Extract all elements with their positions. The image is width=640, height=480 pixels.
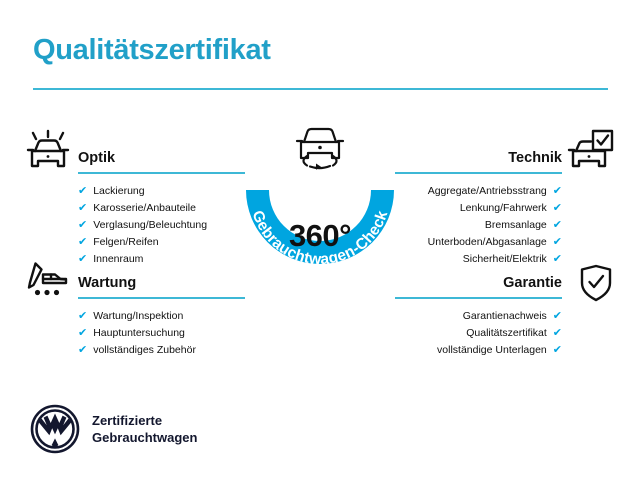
section-garantie-title: Garantie: [395, 273, 562, 293]
vw-logo: [30, 404, 80, 454]
car-rotate-360-icon: [290, 118, 350, 174]
check-icon: ✔: [78, 328, 87, 339]
section-optik-divider: [78, 172, 245, 174]
check-icon: ✔: [553, 220, 562, 231]
section-optik-header: Optik: [78, 148, 245, 174]
list-item: ✔Wartung/Inspektion: [78, 308, 245, 325]
section-technik-list: Aggregate/Antriebsstrang✔ Lenkung/Fahrwe…: [395, 183, 562, 268]
section-technik-divider: [395, 172, 562, 174]
list-item-label: vollständiges Zubehör: [93, 342, 196, 359]
footer: Zertifizierte Gebrauchtwagen: [30, 404, 197, 454]
footer-text: Zertifizierte Gebrauchtwagen: [92, 412, 197, 446]
list-item-label: Lenkung/Fahrwerk: [460, 200, 547, 217]
list-item-label: Lackierung: [93, 183, 144, 200]
list-item: vollständige Unterlagen✔: [395, 342, 562, 359]
check-icon: ✔: [553, 254, 562, 265]
footer-line-2: Gebrauchtwagen: [92, 429, 197, 446]
section-technik-header: Technik: [395, 148, 562, 174]
check-icon: ✔: [553, 311, 562, 322]
list-item: ✔Verglasung/Beleuchtung: [78, 217, 245, 234]
badge-center-label: 360°: [228, 218, 412, 254]
list-item-label: Unterboden/Abgasanlage: [428, 234, 547, 251]
list-item: Unterboden/Abgasanlage✔: [395, 234, 562, 251]
badge-360-gebrauchtwagen-check: Gebrauchtwagen-Check 360°: [228, 118, 412, 308]
list-item: Lenkung/Fahrwerk✔: [395, 200, 562, 217]
list-item: ✔Innenraum: [78, 251, 245, 268]
check-icon: ✔: [78, 237, 87, 248]
section-wartung-header: Wartung: [78, 273, 245, 299]
check-icon: ✔: [553, 203, 562, 214]
check-icon: ✔: [78, 186, 87, 197]
list-item-label: Felgen/Reifen: [93, 234, 158, 251]
section-garantie-list: Garantienachweis✔ Qualitätszertifikat✔ v…: [395, 308, 562, 359]
car-checkbox-icon: [566, 129, 614, 173]
list-item: Qualitätszertifikat✔: [395, 325, 562, 342]
list-item-label: Sicherheit/Elektrik: [463, 251, 547, 268]
list-item: Garantienachweis✔: [395, 308, 562, 325]
list-item: ✔Karosserie/Anbauteile: [78, 200, 245, 217]
list-item-label: Verglasung/Beleuchtung: [93, 217, 207, 234]
list-item: Bremsanlage✔: [395, 217, 562, 234]
section-technik: Technik Aggregate/Antriebsstrang✔ Lenkun…: [395, 148, 562, 268]
list-item-label: Qualitätszertifikat: [466, 325, 547, 342]
section-optik-title: Optik: [78, 148, 245, 168]
section-wartung-divider: [78, 297, 245, 299]
footer-line-1: Zertifizierte: [92, 412, 197, 429]
section-wartung-title: Wartung: [78, 273, 245, 293]
list-item-label: Karosserie/Anbauteile: [93, 200, 196, 217]
check-icon: ✔: [78, 254, 87, 265]
check-icon: ✔: [78, 345, 87, 356]
list-item-label: Wartung/Inspektion: [93, 308, 183, 325]
section-technik-title: Technik: [395, 148, 562, 168]
car-front-shine-icon: [24, 129, 72, 173]
list-item-label: Garantienachweis: [463, 308, 547, 325]
list-item-label: Bremsanlage: [485, 217, 547, 234]
car-service-pen-icon: [24, 259, 72, 303]
check-icon: ✔: [553, 237, 562, 248]
section-optik: Optik ✔Lackierung ✔Karosserie/Anbauteile…: [78, 148, 245, 268]
list-item-label: Hauptuntersuchung: [93, 325, 185, 342]
check-icon: ✔: [553, 328, 562, 339]
list-item: Aggregate/Antriebsstrang✔: [395, 183, 562, 200]
title-divider: [33, 88, 608, 90]
check-icon: ✔: [78, 311, 87, 322]
shield-check-icon: [572, 261, 620, 305]
check-icon: ✔: [553, 345, 562, 356]
check-icon: ✔: [553, 186, 562, 197]
check-icon: ✔: [78, 220, 87, 231]
list-item-label: Innenraum: [93, 251, 143, 268]
list-item-label: Aggregate/Antriebsstrang: [428, 183, 547, 200]
check-icon: ✔: [78, 203, 87, 214]
list-item-label: vollständige Unterlagen: [437, 342, 547, 359]
page-title: Qualitätszertifikat: [33, 34, 271, 67]
list-item: ✔Lackierung: [78, 183, 245, 200]
section-garantie: Garantie Garantienachweis✔ Qualitätszert…: [395, 273, 562, 359]
section-wartung: Wartung ✔Wartung/Inspektion ✔Hauptunters…: [78, 273, 245, 359]
list-item: ✔Felgen/Reifen: [78, 234, 245, 251]
certificate-page: Qualitätszertifikat: [0, 0, 640, 480]
section-garantie-divider: [395, 297, 562, 299]
section-optik-list: ✔Lackierung ✔Karosserie/Anbauteile ✔Verg…: [78, 183, 245, 268]
list-item: ✔Hauptuntersuchung: [78, 325, 245, 342]
section-wartung-list: ✔Wartung/Inspektion ✔Hauptuntersuchung ✔…: [78, 308, 245, 359]
section-garantie-header: Garantie: [395, 273, 562, 299]
list-item: ✔vollständiges Zubehör: [78, 342, 245, 359]
list-item: Sicherheit/Elektrik✔: [395, 251, 562, 268]
